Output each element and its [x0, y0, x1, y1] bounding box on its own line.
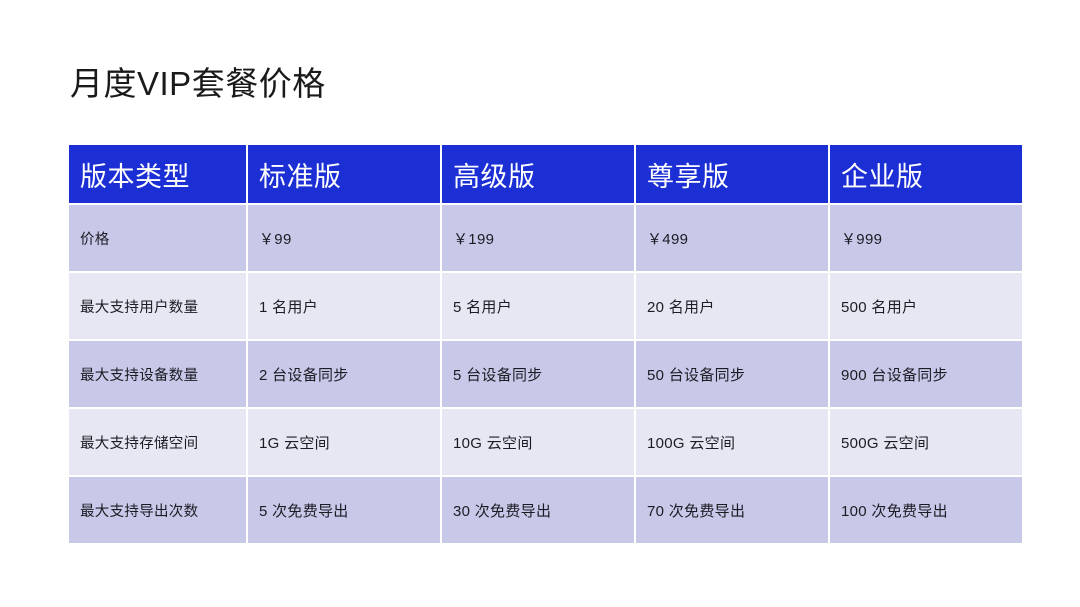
cell-enterprise: 900 台设备同步 — [830, 341, 1022, 407]
slide-canvas: 月度VIP套餐价格 版本类型 标准版 高级版 尊享版 企业版 价格 ￥99 ￥1… — [0, 0, 1080, 607]
table-body: 价格 ￥99 ￥199 ￥499 ￥999 最大支持用户数量 1 名用户 5 名… — [69, 205, 1022, 543]
cell-advanced: 10G 云空间 — [442, 409, 634, 475]
cell-standard: 2 台设备同步 — [248, 341, 440, 407]
pricing-table: 版本类型 标准版 高级版 尊享版 企业版 价格 ￥99 ￥199 ￥499 ￥9… — [67, 143, 1024, 545]
cell-premium: 70 次免费导出 — [636, 477, 828, 543]
cell-standard: ￥99 — [248, 205, 440, 271]
cell-enterprise: 500G 云空间 — [830, 409, 1022, 475]
column-header-standard: 标准版 — [248, 145, 440, 203]
cell-premium: 20 名用户 — [636, 273, 828, 339]
cell-advanced: 5 台设备同步 — [442, 341, 634, 407]
feature-label: 最大支持用户数量 — [69, 273, 246, 339]
column-header-premium: 尊享版 — [636, 145, 828, 203]
feature-label: 最大支持存储空间 — [69, 409, 246, 475]
table-header: 版本类型 标准版 高级版 尊享版 企业版 — [69, 145, 1022, 203]
cell-enterprise: 100 次免费导出 — [830, 477, 1022, 543]
table-row: 最大支持用户数量 1 名用户 5 名用户 20 名用户 500 名用户 — [69, 273, 1022, 339]
cell-advanced: 30 次免费导出 — [442, 477, 634, 543]
feature-label: 最大支持导出次数 — [69, 477, 246, 543]
cell-advanced: 5 名用户 — [442, 273, 634, 339]
column-header-advanced: 高级版 — [442, 145, 634, 203]
cell-premium: 50 台设备同步 — [636, 341, 828, 407]
cell-enterprise: 500 名用户 — [830, 273, 1022, 339]
column-header-enterprise: 企业版 — [830, 145, 1022, 203]
table-header-row: 版本类型 标准版 高级版 尊享版 企业版 — [69, 145, 1022, 203]
cell-premium: ￥499 — [636, 205, 828, 271]
column-header-feature: 版本类型 — [69, 145, 246, 203]
page-title: 月度VIP套餐价格 — [70, 62, 326, 106]
cell-standard: 5 次免费导出 — [248, 477, 440, 543]
table-row: 最大支持设备数量 2 台设备同步 5 台设备同步 50 台设备同步 900 台设… — [69, 341, 1022, 407]
table-row: 最大支持导出次数 5 次免费导出 30 次免费导出 70 次免费导出 100 次… — [69, 477, 1022, 543]
cell-standard: 1G 云空间 — [248, 409, 440, 475]
cell-premium: 100G 云空间 — [636, 409, 828, 475]
feature-label: 价格 — [69, 205, 246, 271]
feature-label: 最大支持设备数量 — [69, 341, 246, 407]
cell-enterprise: ￥999 — [830, 205, 1022, 271]
cell-standard: 1 名用户 — [248, 273, 440, 339]
table-row: 最大支持存储空间 1G 云空间 10G 云空间 100G 云空间 500G 云空… — [69, 409, 1022, 475]
table-row: 价格 ￥99 ￥199 ￥499 ￥999 — [69, 205, 1022, 271]
cell-advanced: ￥199 — [442, 205, 634, 271]
